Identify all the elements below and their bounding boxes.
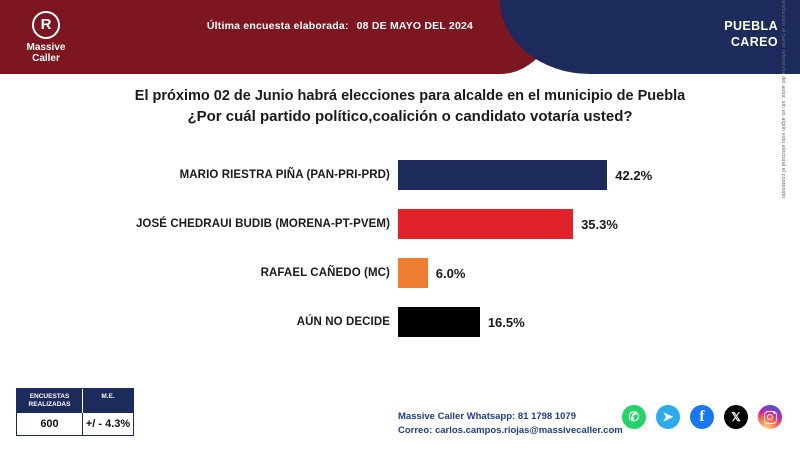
whatsapp-label: Massive Caller Whatsapp:	[398, 411, 515, 422]
chart-row: JOSÉ CHEDRAUI BUDIB (MORENA-PT-PVEM) 35.…	[0, 209, 800, 239]
social-links: ✆ ➤ f 𝕏	[622, 405, 782, 429]
results-bar-chart: MARIO RIESTRA PIÑA (PAN-PRI-PRD) 42.2% J…	[0, 152, 800, 352]
logo-line2: Caller	[27, 53, 66, 64]
x-twitter-icon[interactable]: 𝕏	[724, 405, 748, 429]
logo-mark-icon: R	[32, 11, 60, 39]
region-title: PUEBLA CAREO	[724, 18, 778, 50]
stats-header-row: ENCUESTAS REALIZADAS M.E.	[17, 389, 133, 413]
survey-date-value: 08 DE MAYO DEL 2024	[357, 20, 473, 32]
bar-label: AÚN NO DECIDE	[0, 316, 398, 328]
bar-value: 16.5%	[480, 315, 525, 330]
facebook-icon[interactable]: f	[690, 405, 714, 429]
email-value[interactable]: carlos.campos.riojas@massivecaller.com	[435, 425, 623, 436]
brand-logo: R Massive Caller	[0, 0, 92, 74]
contact-whatsapp-line: Massive Caller Whatsapp: 81 1798 1079	[398, 410, 623, 424]
bar-segment	[398, 258, 428, 288]
bar-value: 35.3%	[573, 217, 618, 232]
stats-header-surveys: ENCUESTAS REALIZADAS	[17, 389, 83, 413]
survey-date-label: Última encuesta elaborada:	[207, 20, 349, 32]
whatsapp-icon[interactable]: ✆	[622, 405, 646, 429]
bar-label: JOSÉ CHEDRAUI BUDIB (MORENA-PT-PVEM)	[0, 218, 398, 230]
question-line-1: El próximo 02 de Junio habrá elecciones …	[60, 86, 760, 106]
chart-row: RAFAEL CAÑEDO (MC) 6.0%	[0, 258, 800, 288]
bar-value: 6.0%	[428, 266, 466, 281]
chart-row: AÚN NO DECIDE 16.5%	[0, 307, 800, 337]
bar-value: 42.2%	[607, 168, 652, 183]
instagram-glyph	[764, 411, 777, 424]
survey-date-banner: Última encuesta elaborada:08 DE MAYO DEL…	[170, 20, 510, 32]
stats-value-margin: +/ - 4.3%	[83, 413, 133, 435]
bar-label: MARIO RIESTRA PIÑA (PAN-PRI-PRD)	[0, 169, 398, 181]
stats-header-margin: M.E.	[83, 389, 133, 413]
region-line2: CAREO	[724, 34, 778, 50]
bar-segment	[398, 160, 607, 190]
chart-row: MARIO RIESTRA PIÑA (PAN-PRI-PRD) 42.2%	[0, 160, 800, 190]
page-header: R Massive Caller Última encuesta elabora…	[0, 0, 800, 74]
poll-question: El próximo 02 de Junio habrá elecciones …	[60, 86, 760, 127]
contact-info: Massive Caller Whatsapp: 81 1798 1079 Co…	[398, 410, 623, 438]
whatsapp-value: 81 1798 1079	[518, 411, 576, 422]
sample-stats-table: ENCUESTAS REALIZADAS M.E. 600 +/ - 4.3%	[16, 388, 134, 436]
logo-line1: Massive	[27, 42, 66, 53]
telegram-icon[interactable]: ➤	[656, 405, 680, 429]
contact-email-line: Correo: carlos.campos.riojas@massivecall…	[398, 424, 623, 438]
bar-label: RAFAEL CAÑEDO (MC)	[0, 267, 398, 279]
instagram-icon[interactable]	[758, 405, 782, 429]
stats-value-surveys: 600	[17, 413, 83, 435]
email-label: Correo:	[398, 425, 432, 436]
region-line1: PUEBLA	[724, 18, 778, 34]
bar-segment	[398, 307, 480, 337]
question-line-2: ¿Por cuál partido político,coalición o c…	[60, 106, 760, 127]
stats-value-row: 600 +/ - 4.3%	[17, 413, 133, 435]
bar-segment	[398, 209, 573, 239]
